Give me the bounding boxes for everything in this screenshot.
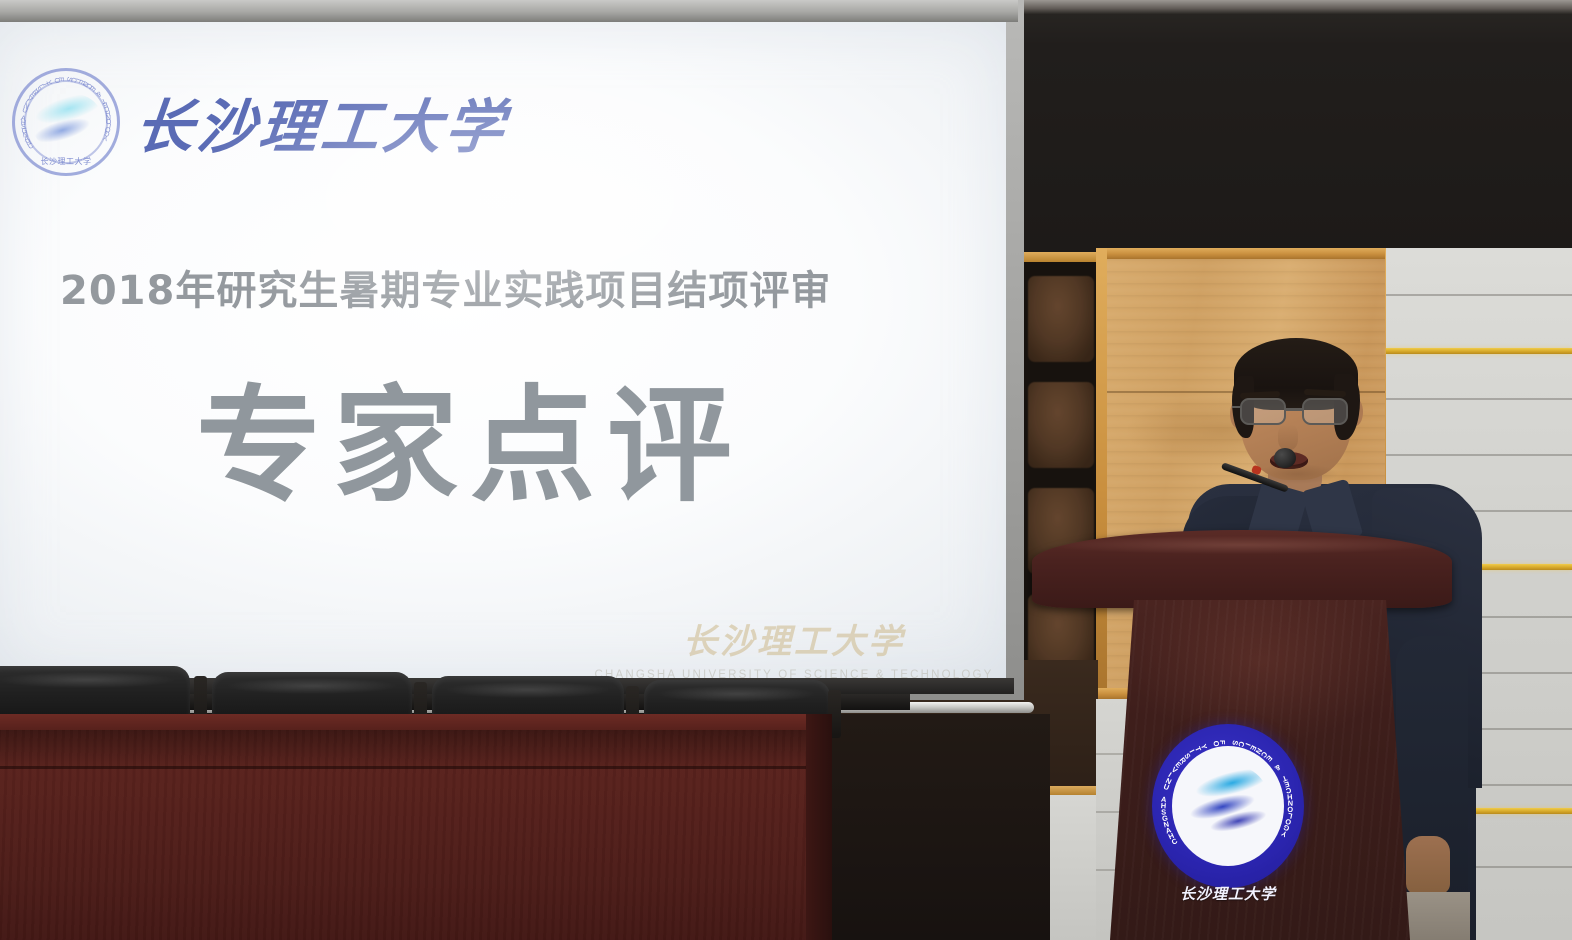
eyeglasses-icon [1232, 398, 1364, 426]
slide-university-logo: CHANGSHA UNIVERSITY OF SCIENCE & TECHNOL… [12, 68, 508, 176]
seat-highlight [447, 682, 608, 698]
eyeglass-bridge [1286, 408, 1304, 411]
wood-trim-left [1096, 248, 1107, 698]
wood-trim-sliver [1018, 252, 1104, 262]
seat-highlight [659, 686, 815, 702]
watermark-english: CHANGSHA UNIVERSITY OF SCIENCE & TECHNOL… [594, 669, 994, 678]
wood-trim-top [1096, 248, 1396, 259]
stage-front-shadow [820, 714, 1050, 940]
university-wordmark: 长沙理工大学 [132, 80, 513, 164]
speaker-nose [1278, 424, 1298, 450]
eyeglass-temple [1232, 406, 1242, 408]
slide-subtitle: 2018年研究生暑期专业实践项目结项评审 [60, 258, 940, 316]
ceiling-edge-strip [1018, 0, 1572, 14]
university-emblem-icon: CHANGSHA UNIVERSITY OF SCIENCE & TECHNOL… [12, 68, 120, 176]
slide-watermark: 长沙理工大学 CHANGSHA UNIVERSITY OF SCIENCE & … [594, 614, 994, 678]
watermark-chinese: 长沙理工大学 [594, 614, 994, 663]
projection-screen-frame: CHANGSHA UNIVERSITY OF SCIENCE & TECHNOL… [0, 0, 1024, 700]
podium-top-highlight [1046, 536, 1438, 554]
seat-highlight [228, 678, 396, 694]
upper-dark-acoustic-panel [1018, 0, 1572, 252]
speaker-right-hand [1406, 836, 1450, 894]
eyeglass-lens-left [1240, 398, 1286, 425]
seal-ring-text: CHANGSHA UNIVERSITY OF SCIENCE & TECHNOL… [1144, 726, 1310, 886]
acoustic-panel-square [1028, 276, 1094, 362]
eyeglass-lens-right [1302, 398, 1348, 425]
slide-title: 专家点评 [0, 344, 946, 525]
acoustic-panel-square [1028, 382, 1094, 468]
auditorium-scene: CHANGSHA UNIVERSITY OF SCIENCE & TECHNOL… [0, 0, 1572, 940]
seat-highlight [0, 672, 173, 688]
screen-top-casing [0, 0, 1018, 22]
projection-screen: CHANGSHA UNIVERSITY OF SCIENCE & TECHNOL… [0, 22, 1006, 678]
seal-bottom-text: 长沙理工大学 [1164, 883, 1292, 904]
table-top-shadow [0, 730, 820, 770]
table-right-edge [806, 714, 832, 940]
microphone-head-icon [1274, 448, 1296, 468]
emblem-bottom-text: 长沙理工大学 [36, 156, 96, 170]
slat-seam [1386, 294, 1572, 296]
podium-university-seal-icon: CHANGSHA UNIVERSITY OF SCIENCE & TECHNOL… [1144, 706, 1310, 906]
table-panel-seam [0, 766, 820, 769]
